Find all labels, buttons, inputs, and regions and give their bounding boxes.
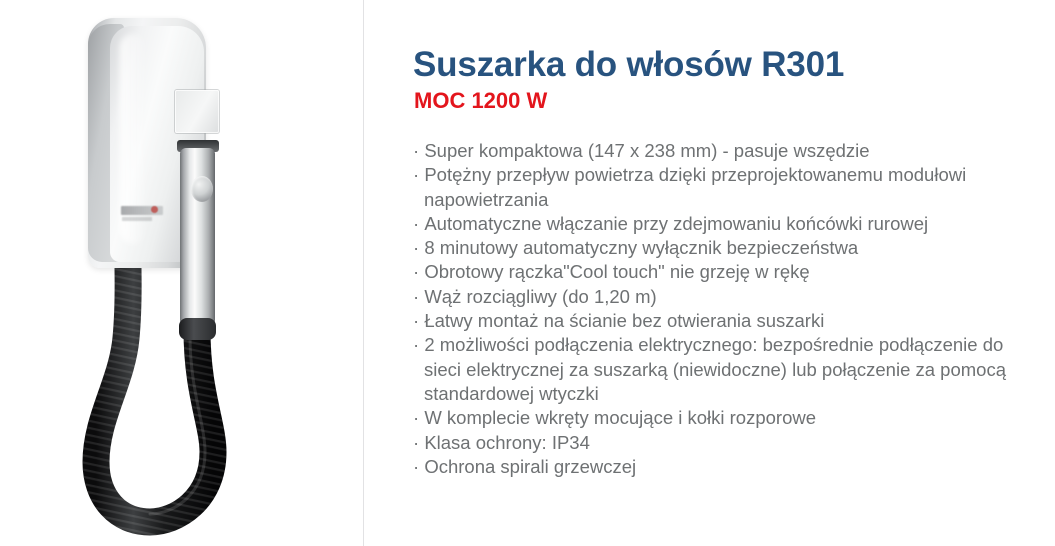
handle-hose-collar [179,318,216,340]
brand-logo-dot [151,206,158,213]
handle-thumb-button [191,176,213,202]
feature-item: W komplecie wkręty mocujące i kołki rozp… [413,406,1043,430]
product-title: Suszarka do włosów R301 [413,45,844,85]
feature-item: 8 minutowy automatyczny wyłącznik bezpie… [413,236,1043,260]
feature-item: Wąż rozciągliwy (do 1,20 m) [413,285,1043,309]
product-detail-page: Suszarka do włosów R301 MOC 1200 W Super… [0,0,1055,546]
feature-item: Super kompaktowa (147 x 238 mm) - pasuje… [413,139,1043,163]
feature-item: 2 możliwości podłączenia elektrycznego: … [413,333,1043,406]
feature-item: Ochrona spirali grzewczej [413,455,1043,479]
feature-item: Obrotowy rączka"Cool touch" nie grzeję w… [413,260,1043,284]
feature-item: Automatyczne włączanie przy zdejmowaniu … [413,212,1043,236]
feature-item: Łatwy montaż na ścianie bez otwierania s… [413,309,1043,333]
product-info-panel: Suszarka do włosów R301 MOC 1200 W Super… [413,0,1053,546]
brand-logo-subtext [122,217,152,221]
vertical-divider [363,0,364,546]
feature-list: Super kompaktowa (147 x 238 mm) - pasuje… [413,139,1043,479]
dryer-label-plate [175,90,219,133]
feature-item: Potężny przepływ powietrza dzięki przepr… [413,163,1043,212]
feature-item: Klasa ochrony: IP34 [413,431,1043,455]
product-image-panel [0,0,364,546]
product-power-subtitle: MOC 1200 W [414,88,547,114]
hair-dryer-product-image [0,0,364,546]
